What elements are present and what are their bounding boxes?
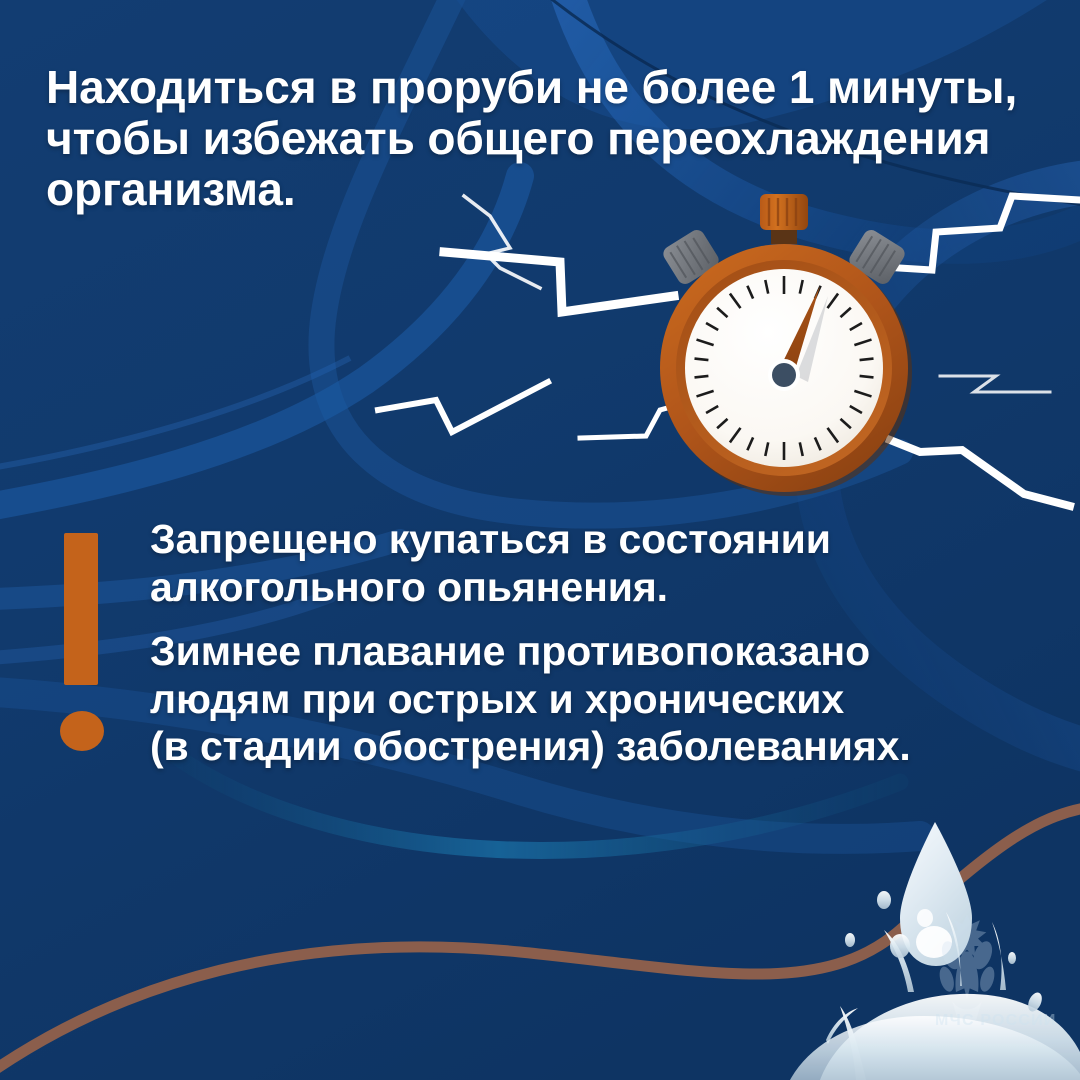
mchs-watermark-label: МЧС РОССИИ bbox=[935, 1012, 1057, 1030]
stopwatch-crown[interactable] bbox=[760, 194, 808, 230]
warning-text-alcohol: Запрещено купаться в состоянии алкогольн… bbox=[150, 516, 1050, 611]
exclamation-bar bbox=[64, 533, 98, 685]
exclamation-mark-icon bbox=[60, 533, 104, 755]
water-drop-highlight-small bbox=[917, 909, 933, 927]
stopwatch-center-pin bbox=[772, 363, 796, 387]
stopwatch-icon bbox=[628, 186, 940, 498]
warning-text-illness: Зимнее плавание противопоказано людям пр… bbox=[150, 628, 1070, 771]
exclamation-dot bbox=[60, 711, 104, 751]
infographic-poster: Находиться в проруби не более 1 минуты, … bbox=[0, 0, 1080, 1080]
